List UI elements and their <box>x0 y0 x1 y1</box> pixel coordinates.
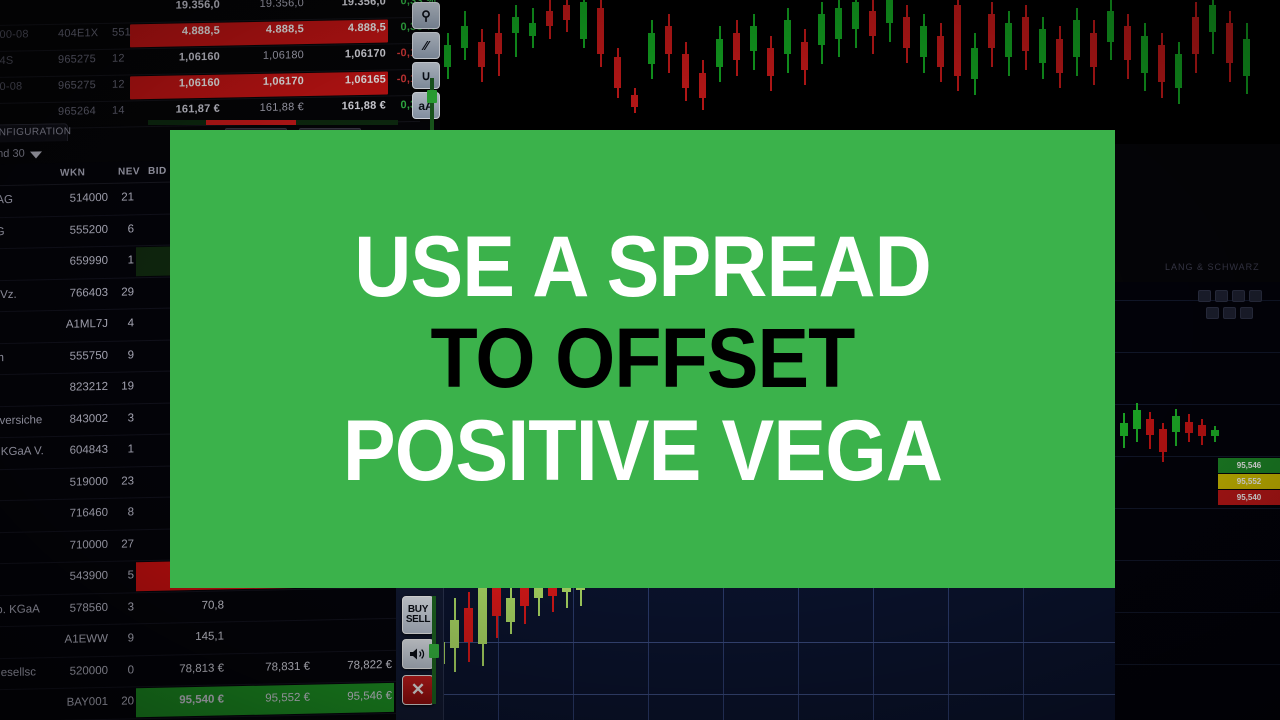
cell-ask: 161,88 € <box>222 101 304 115</box>
green-overlay-card: USE A SPREAD TO OFFSET POSITIVE VEGA <box>170 130 1115 588</box>
cell-nev: 12 <box>112 53 125 65</box>
candle-body <box>818 14 825 45</box>
right-candlestick-chart[interactable]: 95,54695,55295,540 <box>1115 282 1280 720</box>
grid-line <box>648 586 649 720</box>
price-axis-label: 95,540 <box>1218 490 1280 505</box>
cell-wkn: 520000 <box>46 664 108 677</box>
cell-bid: 1,06160 <box>135 77 220 91</box>
candle-body <box>1005 23 1012 57</box>
cell-wkn: 965275 <box>58 79 96 92</box>
candle-body <box>614 57 621 88</box>
cell-last: 19.356,0 <box>306 0 386 9</box>
cell-nev: 14 <box>112 105 125 117</box>
cell-instrument-name: o. KGaA V. <box>0 445 44 458</box>
cell-wkn: 659990 <box>46 255 108 268</box>
cell-name: X4S <box>0 55 13 67</box>
candle-body <box>512 17 519 33</box>
slider-knob[interactable] <box>429 644 439 658</box>
cell-nev: 8 <box>114 506 134 518</box>
candle-body <box>1022 17 1029 51</box>
grid-line <box>1115 404 1280 405</box>
cell-ask: 19.356,0 <box>222 0 304 11</box>
candle-body <box>1146 419 1154 435</box>
candle-body <box>682 54 689 88</box>
cell-instrument-name: Co. KGaA <box>0 603 40 616</box>
price-axis-label: 95,546 <box>1218 458 1280 473</box>
close-icon: ✕ <box>411 680 425 700</box>
chart-tools-top[interactable]: ⚲∕∕∪aA <box>412 2 442 122</box>
candle-body <box>1198 425 1206 437</box>
cell-nev: 1 <box>114 254 134 266</box>
cell-last: 161,88 € <box>306 100 386 114</box>
chart-toolbar-right[interactable] <box>1198 290 1278 324</box>
cell-nev: 9 <box>114 632 134 644</box>
candle-body <box>444 45 451 67</box>
parallel-lines-button[interactable]: ∕∕ <box>412 32 440 59</box>
candle-body <box>1107 11 1114 42</box>
watchlist-selector-label: ...nd 30 <box>0 148 25 161</box>
candle-body <box>450 620 459 648</box>
cell-bid: 161,87 € <box>135 103 220 117</box>
cell-instrument-name: ngesellsc <box>0 666 36 679</box>
cell-bid: 145,1 <box>138 630 224 644</box>
candle-body <box>597 8 604 55</box>
candle-body <box>1141 36 1148 73</box>
candle-body <box>1211 430 1219 436</box>
slider-knob[interactable] <box>427 90 437 103</box>
top-candlestick-chart[interactable] <box>440 0 1280 144</box>
candle-body <box>648 33 655 64</box>
cell-ask: 1,06180 <box>222 49 304 63</box>
header-bid: BID <box>148 166 167 177</box>
cell-last <box>310 627 392 629</box>
grid-line <box>1115 456 1280 457</box>
grid-line <box>1023 586 1024 720</box>
top-quote-table[interactable]: 19.356,019.356,019.356,00,33 %X00-08404E… <box>0 0 420 128</box>
cell-instrument-name: ckversiche <box>0 414 42 427</box>
cell-wkn: A1EWW <box>46 633 108 646</box>
cell-instrument-name: om <box>0 352 4 364</box>
cell-wkn: 716460 <box>46 507 108 520</box>
candle-body <box>1159 429 1167 452</box>
cell-nev: 6 <box>114 223 134 235</box>
cell-wkn: 965275 <box>58 53 96 66</box>
candle-body <box>665 26 672 54</box>
candle-body <box>461 26 468 48</box>
cell-ask: 95,552 € <box>228 692 310 706</box>
candle-body <box>954 5 961 76</box>
candle-body <box>506 598 515 622</box>
cell-ask: 1,06170 <box>222 75 304 89</box>
header-wkn: WKN <box>60 167 85 179</box>
cell-wkn: 404E1X <box>58 27 98 40</box>
cell-nev: 23 <box>114 475 134 487</box>
cell-instrument-name: G Vz. <box>0 288 17 301</box>
candle-body <box>464 608 473 642</box>
cell-last: 78,822 € <box>310 658 392 672</box>
cell-wkn: BAY001 <box>46 696 108 709</box>
grid-line <box>723 586 724 720</box>
grid-line <box>1115 508 1280 509</box>
cell-bid: 78,813 € <box>138 662 224 676</box>
cell-ask <box>228 597 310 599</box>
candle-body <box>1056 39 1063 73</box>
candle-body <box>1226 23 1233 63</box>
candle-body <box>1243 39 1250 76</box>
grid-line <box>440 694 1140 695</box>
cell-last <box>310 595 392 597</box>
grid-line <box>1115 560 1280 561</box>
cell-nev: 21 <box>114 191 134 203</box>
headline-line-3: POSITIVE VEGA <box>208 408 1077 494</box>
cell-instrument-name: AG <box>0 226 5 238</box>
candle-body <box>1192 17 1199 54</box>
candle-body <box>784 20 791 54</box>
cell-last: 1,06170 <box>306 48 386 62</box>
candle-body <box>767 48 774 76</box>
cell-nev: 551 <box>112 26 131 38</box>
candle-body <box>903 17 910 48</box>
cell-nev: 9 <box>114 349 134 361</box>
cell-wkn: 766403 <box>46 286 108 299</box>
cell-wkn: 578560 <box>46 601 108 614</box>
candle-body <box>988 14 995 48</box>
candle-body <box>1172 416 1180 432</box>
cell-wkn: 543900 <box>46 570 108 583</box>
candle-body <box>1185 422 1193 434</box>
cell-wkn: 843002 <box>46 412 108 425</box>
candle-body <box>478 42 485 67</box>
candle-body <box>478 586 487 644</box>
candle-body <box>495 33 502 55</box>
candle-body <box>1158 45 1165 82</box>
chevron-down-icon <box>30 151 42 158</box>
cell-wkn: 823212 <box>46 381 108 394</box>
cell-nev: 1 <box>114 443 134 455</box>
grid-line <box>873 586 874 720</box>
configuration-tab[interactable]: CONFIGURATION <box>0 123 68 143</box>
candle-body <box>529 23 536 35</box>
price-axis-label: 95,552 <box>1218 474 1280 489</box>
header-nev: NEV <box>118 166 140 177</box>
candle-body <box>580 2 587 39</box>
cell-nev: 12 <box>112 79 125 91</box>
candle-body <box>1073 20 1080 57</box>
candle-body <box>937 36 944 67</box>
grid-line <box>440 642 1140 643</box>
cell-last: 95,546 € <box>310 690 392 704</box>
parallel-lines-icon: ∕∕ <box>413 33 439 58</box>
cell-wkn: 555200 <box>46 223 108 236</box>
cell-wkn: 965264 <box>58 105 96 118</box>
cell-wkn: 514000 <box>46 192 108 205</box>
cell-nev: 19 <box>114 380 134 392</box>
grid-line <box>798 586 799 720</box>
grid-line <box>1115 612 1280 613</box>
grid-line <box>1115 352 1280 353</box>
cell-wkn: 604843 <box>46 444 108 457</box>
candle-body <box>492 588 501 616</box>
curve-button[interactable]: ∪ <box>412 62 440 89</box>
watchlist-selector[interactable]: ...nd 30 <box>0 145 138 164</box>
candle-body <box>563 5 570 21</box>
candle-body <box>1120 423 1128 436</box>
cell-bid: 70,8 <box>138 599 224 613</box>
cell-nev: 3 <box>114 412 134 424</box>
candle-body <box>801 42 808 70</box>
configuration-tab-label: CONFIGURATION <box>0 126 71 139</box>
candle-body <box>920 26 927 57</box>
cell-name: X0-08 <box>0 81 22 94</box>
cell-nev: 4 <box>114 317 134 329</box>
headline-line-1: USE A SPREAD <box>208 224 1077 310</box>
cell-last: 4.888,5 <box>306 22 386 36</box>
speaker-icon <box>409 647 427 661</box>
sell-label: SELL <box>406 615 430 626</box>
candle-body <box>631 95 638 107</box>
candle-body <box>852 2 859 30</box>
cell-nev: 3 <box>114 601 134 613</box>
cell-nev: 20 <box>114 695 134 707</box>
bottom-candlestick-chart[interactable] <box>440 586 1140 720</box>
cell-name: X00-08 <box>0 28 29 41</box>
cell-nev: 5 <box>114 569 134 581</box>
cell-nev: 27 <box>114 538 134 550</box>
curve-icon: ∪ <box>413 63 439 88</box>
candle-body <box>869 11 876 36</box>
cell-ask: 4.888,5 <box>222 23 304 37</box>
volume-bar <box>148 120 398 125</box>
cell-instrument-name: k AG <box>0 194 13 207</box>
cell-nev: 0 <box>114 664 134 676</box>
search-icon: ⚲ <box>413 3 439 28</box>
close-button[interactable]: ✕ <box>402 675 434 705</box>
candle-body <box>886 0 893 23</box>
candle-body <box>1039 29 1046 63</box>
cell-ask <box>228 629 310 631</box>
candle-body <box>1175 54 1182 88</box>
cell-bid: 1,06160 <box>135 51 220 65</box>
broker-name-label: LANG & SCHWARZ <box>1165 262 1260 272</box>
cell-wkn: 519000 <box>46 475 108 488</box>
cell-nev: 29 <box>114 286 134 298</box>
candle-body <box>971 48 978 79</box>
cell-bid: 95,540 € <box>138 693 224 707</box>
search-button[interactable]: ⚲ <box>412 2 440 29</box>
candle-body <box>835 8 842 39</box>
screenshot-root: 19.356,019.356,019.356,00,33 %X00-08404E… <box>0 0 1280 720</box>
candle-body <box>733 33 740 61</box>
cell-bid: 4.888,5 <box>135 25 220 39</box>
cell-wkn: 555750 <box>46 349 108 362</box>
candle-body <box>1124 26 1131 60</box>
cell-wkn: A1ML7J <box>46 318 108 331</box>
headline-line-2: TO OFFSET <box>208 316 1077 400</box>
candle-body <box>1133 410 1141 429</box>
candle-body <box>750 26 757 51</box>
cell-ask: 78,831 € <box>228 660 310 674</box>
candle-body <box>716 39 723 67</box>
cell-wkn: 710000 <box>46 538 108 551</box>
cell-last: 1,06165 <box>306 74 386 88</box>
candle-body <box>1090 33 1097 67</box>
grid-line <box>948 586 949 720</box>
grid-line <box>1115 664 1280 665</box>
vertical-slider-bottom[interactable] <box>432 596 436 704</box>
candle-body <box>699 73 706 98</box>
candle-body <box>546 11 553 27</box>
cell-bid: 19.356,0 <box>135 0 220 12</box>
grid-line <box>573 586 574 720</box>
buy-sell-button[interactable]: BUY SELL <box>402 596 434 634</box>
candle-body <box>1209 5 1216 33</box>
candle-body <box>520 586 529 606</box>
